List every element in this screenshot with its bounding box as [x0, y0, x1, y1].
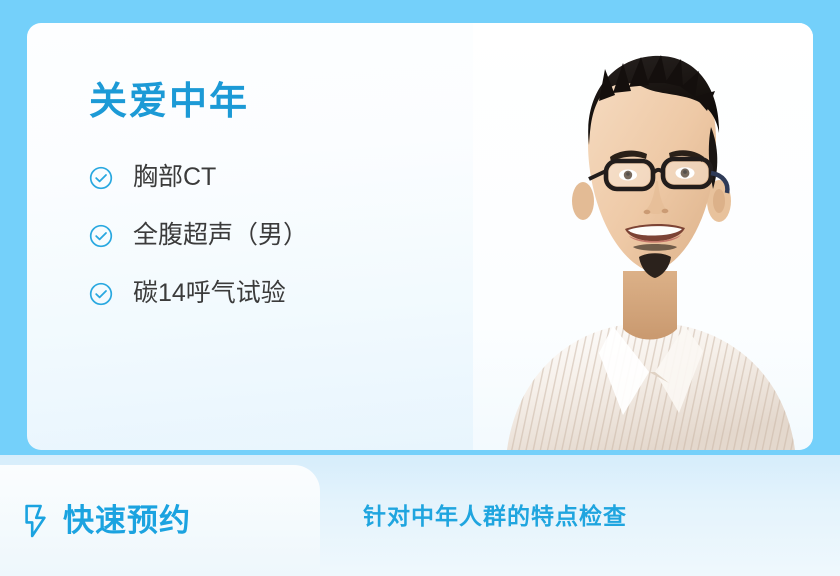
- health-package-promo-card[interactable]: 关爱中年 胸部CT: [0, 0, 840, 576]
- feature-list: 胸部CT 全腹超声（男）: [89, 165, 419, 306]
- quick-booking-label: 快速预约: [63, 505, 191, 536]
- lightning-bolt-icon: [22, 504, 49, 538]
- check-circle-icon: [89, 166, 113, 190]
- list-item: 碳14呼气试验: [89, 281, 419, 306]
- list-item-label: 胸部CT: [133, 165, 216, 190]
- text-column: 关爱中年 胸部CT: [89, 83, 419, 339]
- portrait-photo: [473, 23, 813, 450]
- list-item: 胸部CT: [89, 165, 419, 190]
- quick-booking-button[interactable]: 快速预约: [0, 465, 320, 576]
- page-title: 关爱中年: [89, 83, 419, 121]
- check-circle-icon: [89, 224, 113, 248]
- list-item: 全腹超声（男）: [89, 223, 419, 248]
- check-circle-icon: [89, 282, 113, 306]
- list-item-label: 碳14呼气试验: [133, 281, 286, 306]
- list-item-label: 全腹超声（男）: [133, 223, 308, 248]
- bottom-bar: 针对中年人群的特点检查 快速预约: [0, 455, 840, 576]
- package-subtitle: 针对中年人群的特点检查: [363, 505, 627, 528]
- content-card: 关爱中年 胸部CT: [27, 23, 813, 450]
